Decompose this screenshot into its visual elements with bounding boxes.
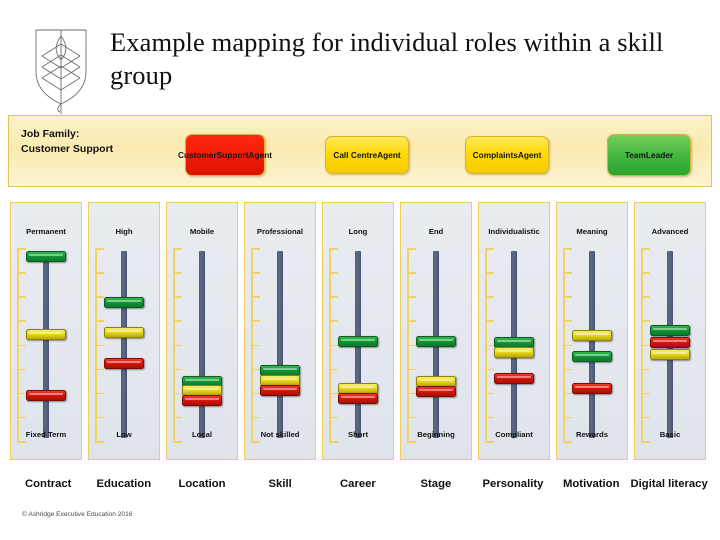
slider-handle-education-customer-support-agent[interactable] — [104, 297, 144, 308]
slider-scale-tick — [485, 441, 494, 443]
slider-handle-career-complaints-agent[interactable] — [338, 393, 378, 404]
slider-scale-tick — [485, 248, 494, 250]
slider-scale-tick — [95, 296, 104, 298]
slider-scale-tick — [563, 272, 572, 274]
slider-bottom-label-digital-literacy: Basic — [635, 430, 705, 439]
copyright-footer: © Ashridge Executive Education 2016 — [22, 511, 132, 518]
slider-scale-tick — [95, 345, 104, 347]
slider-scale-tick — [251, 417, 260, 419]
slider-scale-tick — [485, 369, 494, 371]
role-badge-label-line: Call Centre — [333, 150, 377, 161]
slider-handle-education-complaints-agent[interactable] — [104, 358, 144, 369]
slider-top-label-personality: Individualistic — [479, 227, 549, 236]
slider-handle-motivation-call-centre-agent[interactable] — [572, 351, 612, 362]
slider-scale-tick — [329, 248, 338, 250]
role-badge-label-line: Support — [217, 150, 249, 161]
slider-scale-tick — [95, 393, 104, 395]
slider-scale-tick — [563, 248, 572, 250]
slider-scale-tick — [329, 393, 338, 395]
slider-scale-tick — [407, 272, 416, 274]
slider-scale-tick — [485, 320, 494, 322]
slider-bottom-label-contract: Fixed Term — [11, 430, 81, 439]
slider-scale-tick — [17, 441, 26, 443]
slider-scale-tick — [641, 320, 650, 322]
slider-scale-tick — [95, 369, 104, 371]
slider-handle-digital-literacy-call-centre-agent[interactable] — [650, 337, 690, 348]
slider-scale-tick — [485, 296, 494, 298]
slider-scale-tick — [563, 320, 572, 322]
slider-scale-tick — [485, 393, 494, 395]
slider-scale-tick — [173, 345, 182, 347]
slider-scale-tick — [563, 417, 572, 419]
slider-handle-career-customer-support-agent[interactable] — [338, 336, 378, 347]
slider-top-label-career: Long — [323, 227, 393, 236]
slider-panel-career[interactable]: LongShort — [322, 202, 394, 460]
slider-scale-tick — [485, 417, 494, 419]
role-badge-call-centre-agent[interactable]: Call CentreAgent — [325, 136, 409, 174]
slider-scale-tick — [641, 345, 650, 347]
slider-scale-tick — [173, 248, 182, 250]
slider-top-label-education: High — [89, 227, 159, 236]
slider-bottom-label-stage: Beginning — [401, 430, 471, 439]
slider-top-label-location: Mobile — [167, 227, 237, 236]
slider-scale-tick — [641, 272, 650, 274]
slider-top-label-digital-literacy: Advanced — [635, 227, 705, 236]
slider-scale-tick — [641, 369, 650, 371]
slider-handle-motivation-complaints-agent[interactable] — [572, 383, 612, 394]
slider-scale-tick — [329, 345, 338, 347]
slider-panel-group: PermanentFixed TermHighLowMobileLocalPro… — [0, 202, 720, 464]
slider-scale-tick — [95, 320, 104, 322]
slider-scale-tick — [641, 393, 650, 395]
slider-bottom-label-personality: Compliant — [479, 430, 549, 439]
slider-track-skill[interactable] — [277, 251, 283, 438]
dimension-label-stage: Stage — [421, 478, 452, 490]
slider-handle-motivation-customer-support-agent[interactable] — [572, 330, 612, 341]
slider-scale-tick — [95, 272, 104, 274]
slider-scale-tick — [95, 248, 104, 250]
slider-panel-contract[interactable]: PermanentFixed Term — [10, 202, 82, 460]
slider-scale-tick — [17, 320, 26, 322]
slider-handle-digital-literacy-complaints-agent[interactable] — [650, 349, 690, 360]
slider-handle-personality-call-centre-agent[interactable] — [494, 347, 534, 358]
slider-scale-tick — [173, 320, 182, 322]
ashridge-shield-wheat-logo-icon — [30, 22, 92, 114]
slider-track-contract[interactable] — [43, 251, 49, 438]
job-family-band: Job Family: Customer Support CustomerSup… — [8, 115, 712, 187]
role-badge-customer-support-agent[interactable]: CustomerSupportAgent — [185, 134, 265, 176]
slider-scale-tick — [407, 296, 416, 298]
slider-scale-tick — [407, 369, 416, 371]
slider-panel-motivation[interactable]: MeaningRewards — [556, 202, 628, 460]
slider-scale-tick — [17, 345, 26, 347]
slider-handle-personality-complaints-agent[interactable] — [494, 373, 534, 384]
slider-scale-tick — [251, 272, 260, 274]
slider-track-education[interactable] — [121, 251, 127, 438]
slider-bottom-label-skill: Not skilled — [245, 430, 315, 439]
dimension-label-motivation: Motivation — [563, 478, 619, 490]
slider-scale-tick — [407, 320, 416, 322]
dimension-label-location: Location — [179, 478, 226, 490]
slider-scale-tick — [95, 417, 104, 419]
role-badge-label-line: Customer — [178, 150, 217, 161]
slider-bottom-label-education: Low — [89, 430, 159, 439]
slider-scale-tick — [407, 393, 416, 395]
job-family-label-line2: Customer Support — [21, 143, 113, 155]
dimension-label-row: ContractEducationLocationSkillCareerStag… — [0, 478, 720, 500]
slider-scale-tick — [641, 248, 650, 250]
slider-handle-contract-complaints-agent[interactable] — [26, 390, 66, 401]
role-badge-label-line: Agent — [249, 150, 273, 161]
slider-scale-tick — [251, 296, 260, 298]
job-family-label: Job Family: Customer Support — [21, 127, 113, 156]
dimension-label-digital-literacy: Digital literacy — [631, 478, 708, 490]
slider-scale-tick — [173, 272, 182, 274]
slider-scale-tick — [407, 417, 416, 419]
slider-bottom-label-location: Local — [167, 430, 237, 439]
dimension-label-personality: Personality — [483, 478, 544, 490]
slider-scale-tick — [173, 296, 182, 298]
slider-handle-digital-literacy-customer-support-agent[interactable] — [650, 325, 690, 336]
slider-scale-tick — [641, 441, 650, 443]
slider-scale-tick — [563, 369, 572, 371]
slider-scale-tick — [329, 441, 338, 443]
slider-scale-tick — [641, 417, 650, 419]
slider-top-label-stage: End — [401, 227, 471, 236]
slider-top-label-motivation: Meaning — [557, 227, 627, 236]
slider-scale-tick — [17, 393, 26, 395]
slider-scale-tick — [329, 369, 338, 371]
slider-panel-personality[interactable]: IndividualisticCompliant — [478, 202, 550, 460]
slider-handle-stage-customer-support-agent[interactable] — [416, 336, 456, 347]
slider-scale-tick — [329, 417, 338, 419]
slider-scale-tick — [17, 417, 26, 419]
slider-scale-tick — [173, 369, 182, 371]
slider-scale-tick — [563, 345, 572, 347]
slider-scale-tick — [95, 441, 104, 443]
slider-scale-tick — [329, 272, 338, 274]
slide-header: Example mapping for individual roles wit… — [0, 0, 720, 112]
slider-track-motivation[interactable] — [589, 251, 595, 438]
slider-scale-tick — [329, 320, 338, 322]
dimension-label-education: Education — [97, 478, 152, 490]
slider-scale-tick — [563, 296, 572, 298]
slider-scale-tick — [17, 296, 26, 298]
slider-scale-tick — [173, 393, 182, 395]
slider-scale-tick — [251, 345, 260, 347]
role-badge-label-line: Leader — [646, 150, 673, 161]
slider-scale-tick — [329, 296, 338, 298]
slider-panel-stage[interactable]: EndBeginning — [400, 202, 472, 460]
slider-scale-tick — [251, 441, 260, 443]
slider-top-label-skill: Professional — [245, 227, 315, 236]
slider-bottom-label-career: Short — [323, 430, 393, 439]
slider-scale-tick — [17, 272, 26, 274]
slider-handle-skill-complaints-agent[interactable] — [260, 385, 300, 396]
slider-top-label-contract: Permanent — [11, 227, 81, 236]
slider-panel-education[interactable]: HighLow — [88, 202, 160, 460]
slider-scale-tick — [563, 393, 572, 395]
slider-handle-location-complaints-agent[interactable] — [182, 395, 222, 406]
slider-scale-tick — [407, 248, 416, 250]
dimension-label-skill: Skill — [269, 478, 292, 490]
slider-panel-location[interactable]: MobileLocal — [166, 202, 238, 460]
slider-scale-tick — [251, 369, 260, 371]
slider-handle-stage-complaints-agent[interactable] — [416, 386, 456, 397]
slider-scale-tick — [485, 345, 494, 347]
slider-handle-education-call-centre-agent[interactable] — [104, 327, 144, 338]
slider-track-location[interactable] — [199, 251, 205, 438]
slider-scale-tick — [485, 272, 494, 274]
role-badge-team-leader[interactable]: TeamLeader — [607, 134, 691, 176]
job-family-label-line1: Job Family: — [21, 128, 79, 140]
slider-scale-tick — [173, 417, 182, 419]
role-badge-complaints-agent[interactable]: ComplaintsAgent — [465, 136, 549, 174]
slider-bottom-label-motivation: Rewards — [557, 430, 627, 439]
slider-panel-digital-literacy[interactable]: AdvancedBasic — [634, 202, 706, 460]
slider-scale-tick — [563, 441, 572, 443]
slider-handle-contract-call-centre-agent[interactable] — [26, 329, 66, 340]
slider-handle-contract-customer-support-agent[interactable] — [26, 251, 66, 262]
slider-scale-tick — [641, 296, 650, 298]
page-title: Example mapping for individual roles wit… — [110, 26, 670, 92]
role-badge-label-line: Agent — [518, 150, 542, 161]
slider-scale-tick — [251, 393, 260, 395]
dimension-label-contract: Contract — [25, 478, 71, 490]
role-badge-label-line: Agent — [377, 150, 401, 161]
dimension-label-career: Career — [340, 478, 376, 490]
slider-scale-tick — [173, 441, 182, 443]
role-badge-label-line: Complaints — [473, 150, 518, 161]
slider-scale-tick — [407, 441, 416, 443]
slider-scale-tick — [407, 345, 416, 347]
slider-panel-skill[interactable]: ProfessionalNot skilled — [244, 202, 316, 460]
slider-scale-tick — [251, 248, 260, 250]
slider-scale-tick — [17, 248, 26, 250]
slider-scale-tick — [17, 369, 26, 371]
slider-scale-tick — [251, 320, 260, 322]
role-badge-label-line: Team — [625, 150, 646, 161]
